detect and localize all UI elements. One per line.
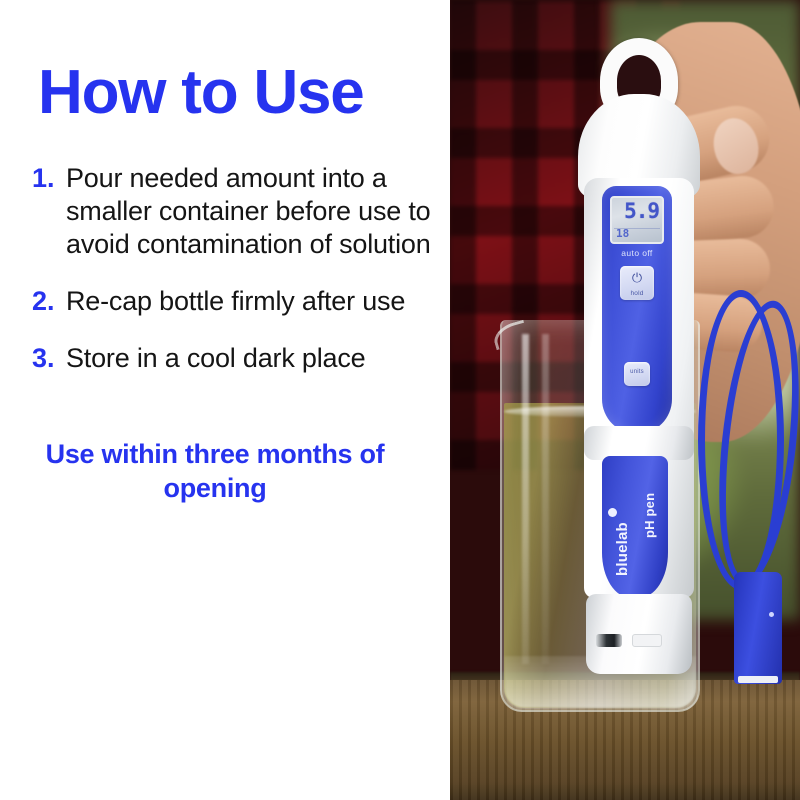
pen-sensor-slot [596, 634, 622, 647]
step-text: Store in a cool dark place [66, 342, 365, 375]
units-label: units [624, 369, 650, 375]
step-number: 1. [30, 162, 66, 195]
brand-label: bluelab [614, 522, 631, 576]
temperature-reading: 18 [616, 227, 629, 240]
units-button[interactable]: units [624, 362, 650, 386]
ph-reading: 5.9 [624, 199, 659, 223]
glass-highlight [542, 334, 549, 664]
glass-highlight [522, 334, 529, 664]
product-label: pH pen [642, 493, 657, 538]
power-hold-button[interactable]: ⏻ hold [620, 266, 654, 300]
steps-list: 1. Pour needed amount into a smaller con… [30, 162, 436, 375]
product-photo: 5.9 18 auto off ⏻ hold units bluelab pH [450, 0, 800, 800]
how-to-use-infographic: How to Use 1. Pour needed amount into a … [0, 0, 800, 800]
step-text: Re-cap bottle firmly after use [66, 285, 405, 318]
list-item: 2. Re-cap bottle firmly after use [30, 285, 436, 318]
list-item: 3. Store in a cool dark place [30, 342, 436, 375]
pen-vent-slot [632, 634, 662, 647]
step-number: 2. [30, 285, 66, 318]
step-number: 3. [30, 342, 66, 375]
pen-mid-band [584, 426, 694, 460]
lanyard-tag [734, 572, 782, 684]
hold-label: hold [620, 290, 654, 297]
expiry-note: Use within three months of opening [30, 437, 436, 506]
step-text: Pour needed amount into a smaller contai… [66, 162, 436, 261]
page-title: How to Use [38, 62, 436, 124]
power-icon: ⏻ [620, 271, 654, 284]
list-item: 1. Pour needed amount into a smaller con… [30, 162, 436, 261]
bluelab-ph-pen: 5.9 18 auto off ⏻ hold units bluelab pH [572, 38, 698, 668]
auto-off-label: auto off [602, 248, 672, 258]
lcd-display: 5.9 18 [610, 196, 664, 244]
lanyard-tag-dot [769, 612, 774, 617]
brand-highlight-dot [608, 508, 617, 517]
instructions-panel: How to Use 1. Pour needed amount into a … [0, 0, 450, 800]
pen-faceplate: 5.9 18 auto off ⏻ hold units [602, 186, 672, 434]
lanyard-tag-foot [738, 676, 778, 683]
pen-lower-blue-panel [602, 456, 668, 598]
